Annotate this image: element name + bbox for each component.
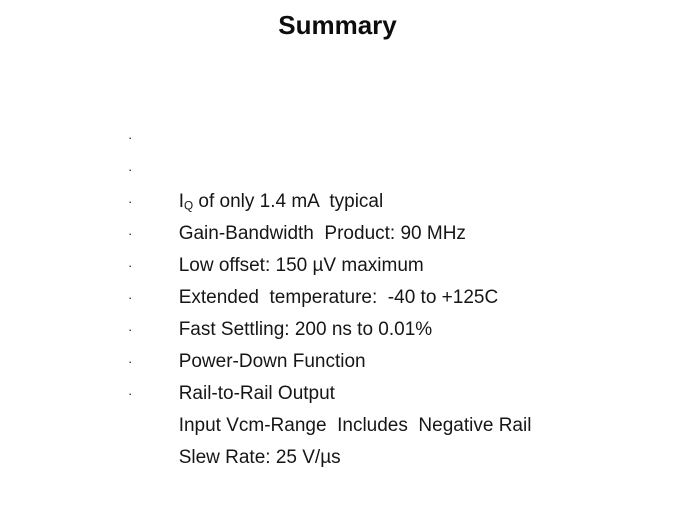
list-item-label: Input Vcm-Range Includes Negative Rail <box>179 415 532 436</box>
list-item-label: Slew Rate: 25 V/µs <box>179 447 341 468</box>
list-item: · IQ of only 1.4 mA typical <box>124 122 604 154</box>
list-item: · Rail-to-Rail Output <box>124 314 604 346</box>
bullet-dot-icon: · <box>128 122 138 154</box>
bullet-dot-icon: · <box>128 250 138 282</box>
list-item: · Low offset: 150 µV maximum <box>124 186 604 218</box>
list-item: · Extended temperature: -40 to +125C <box>124 218 604 250</box>
slide-canvas: Summary · IQ of only 1.4 mA typical · Ga… <box>0 0 675 506</box>
bullet-dot-icon: · <box>128 282 138 314</box>
list-item: · Gain-Bandwidth Product: 90 MHz <box>124 154 604 186</box>
list-item: · Slew Rate: 25 V/µs <box>124 378 604 410</box>
bullet-dot-icon: · <box>128 186 138 218</box>
list-item: · Power-Down Function <box>124 282 604 314</box>
bullet-dot-icon: · <box>128 346 138 378</box>
bullet-dot-icon: · <box>128 154 138 186</box>
bullet-dot-icon: · <box>128 314 138 346</box>
list-item: · Fast Settling: 200 ns to 0.01% <box>124 250 604 282</box>
summary-bullet-list: · IQ of only 1.4 mA typical · Gain-Bandw… <box>124 122 604 410</box>
bullet-dot-icon: · <box>128 218 138 250</box>
list-item: · Input Vcm-Range Includes Negative Rail <box>124 346 604 378</box>
bullet-dot-icon: · <box>128 378 138 410</box>
page-title: Summary <box>0 10 675 40</box>
